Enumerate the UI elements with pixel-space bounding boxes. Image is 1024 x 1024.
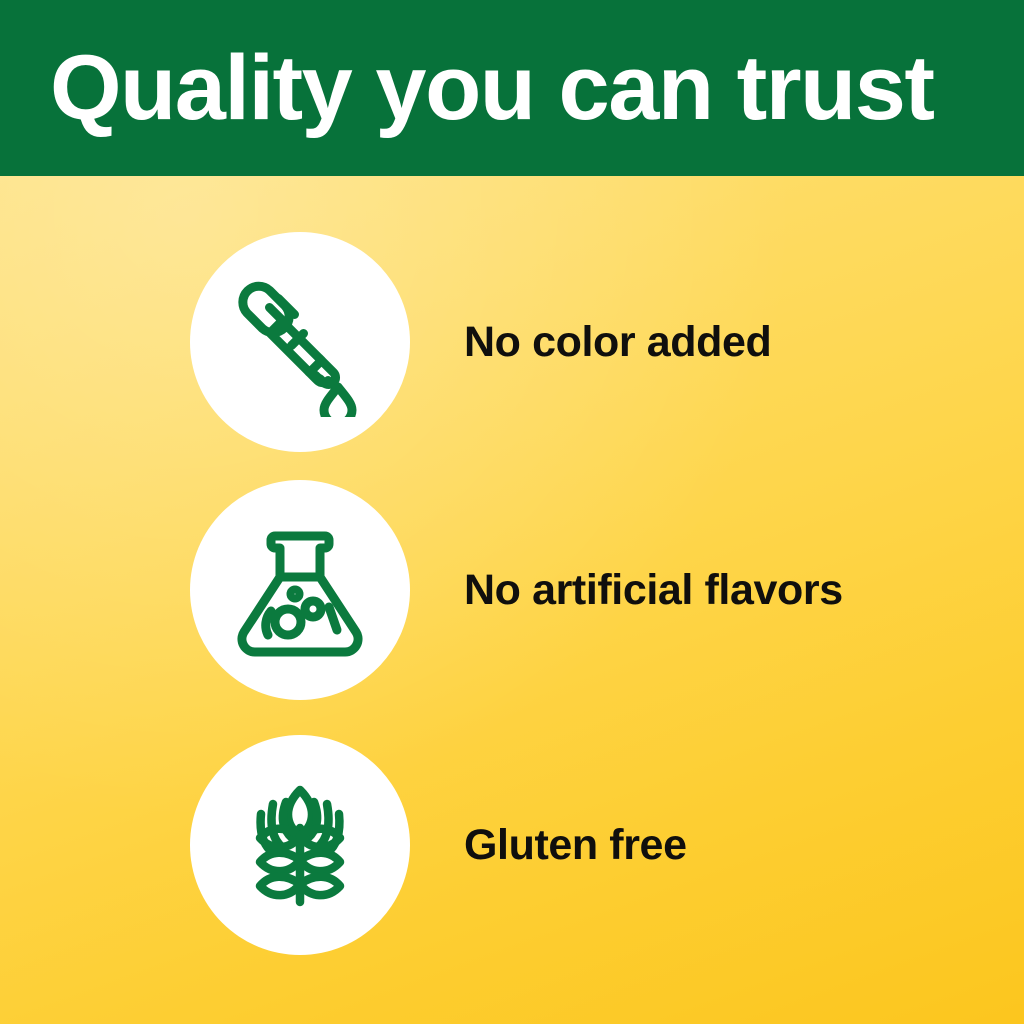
- header-band: Quality you can trust: [0, 0, 1024, 176]
- icon-badge: [190, 232, 410, 452]
- feature-label: Gluten free: [464, 735, 687, 955]
- icon-badge: [190, 735, 410, 955]
- dropper-icon: [225, 267, 375, 417]
- icon-badge: [190, 480, 410, 700]
- feature-list: No color added: [0, 176, 1024, 1024]
- quality-claims-panel: Quality you can trust: [0, 0, 1024, 1024]
- flask-icon: [225, 515, 375, 665]
- feature-label: No color added: [464, 232, 771, 452]
- wheat-icon: [225, 770, 375, 920]
- feature-label: No artificial flavors: [464, 480, 843, 700]
- body-background: No color added: [0, 176, 1024, 1024]
- feature-item: No artificial flavors: [0, 480, 1024, 700]
- feature-item: No color added: [0, 232, 1024, 452]
- feature-item: Gluten free: [0, 735, 1024, 955]
- page-title: Quality you can trust: [50, 34, 1000, 142]
